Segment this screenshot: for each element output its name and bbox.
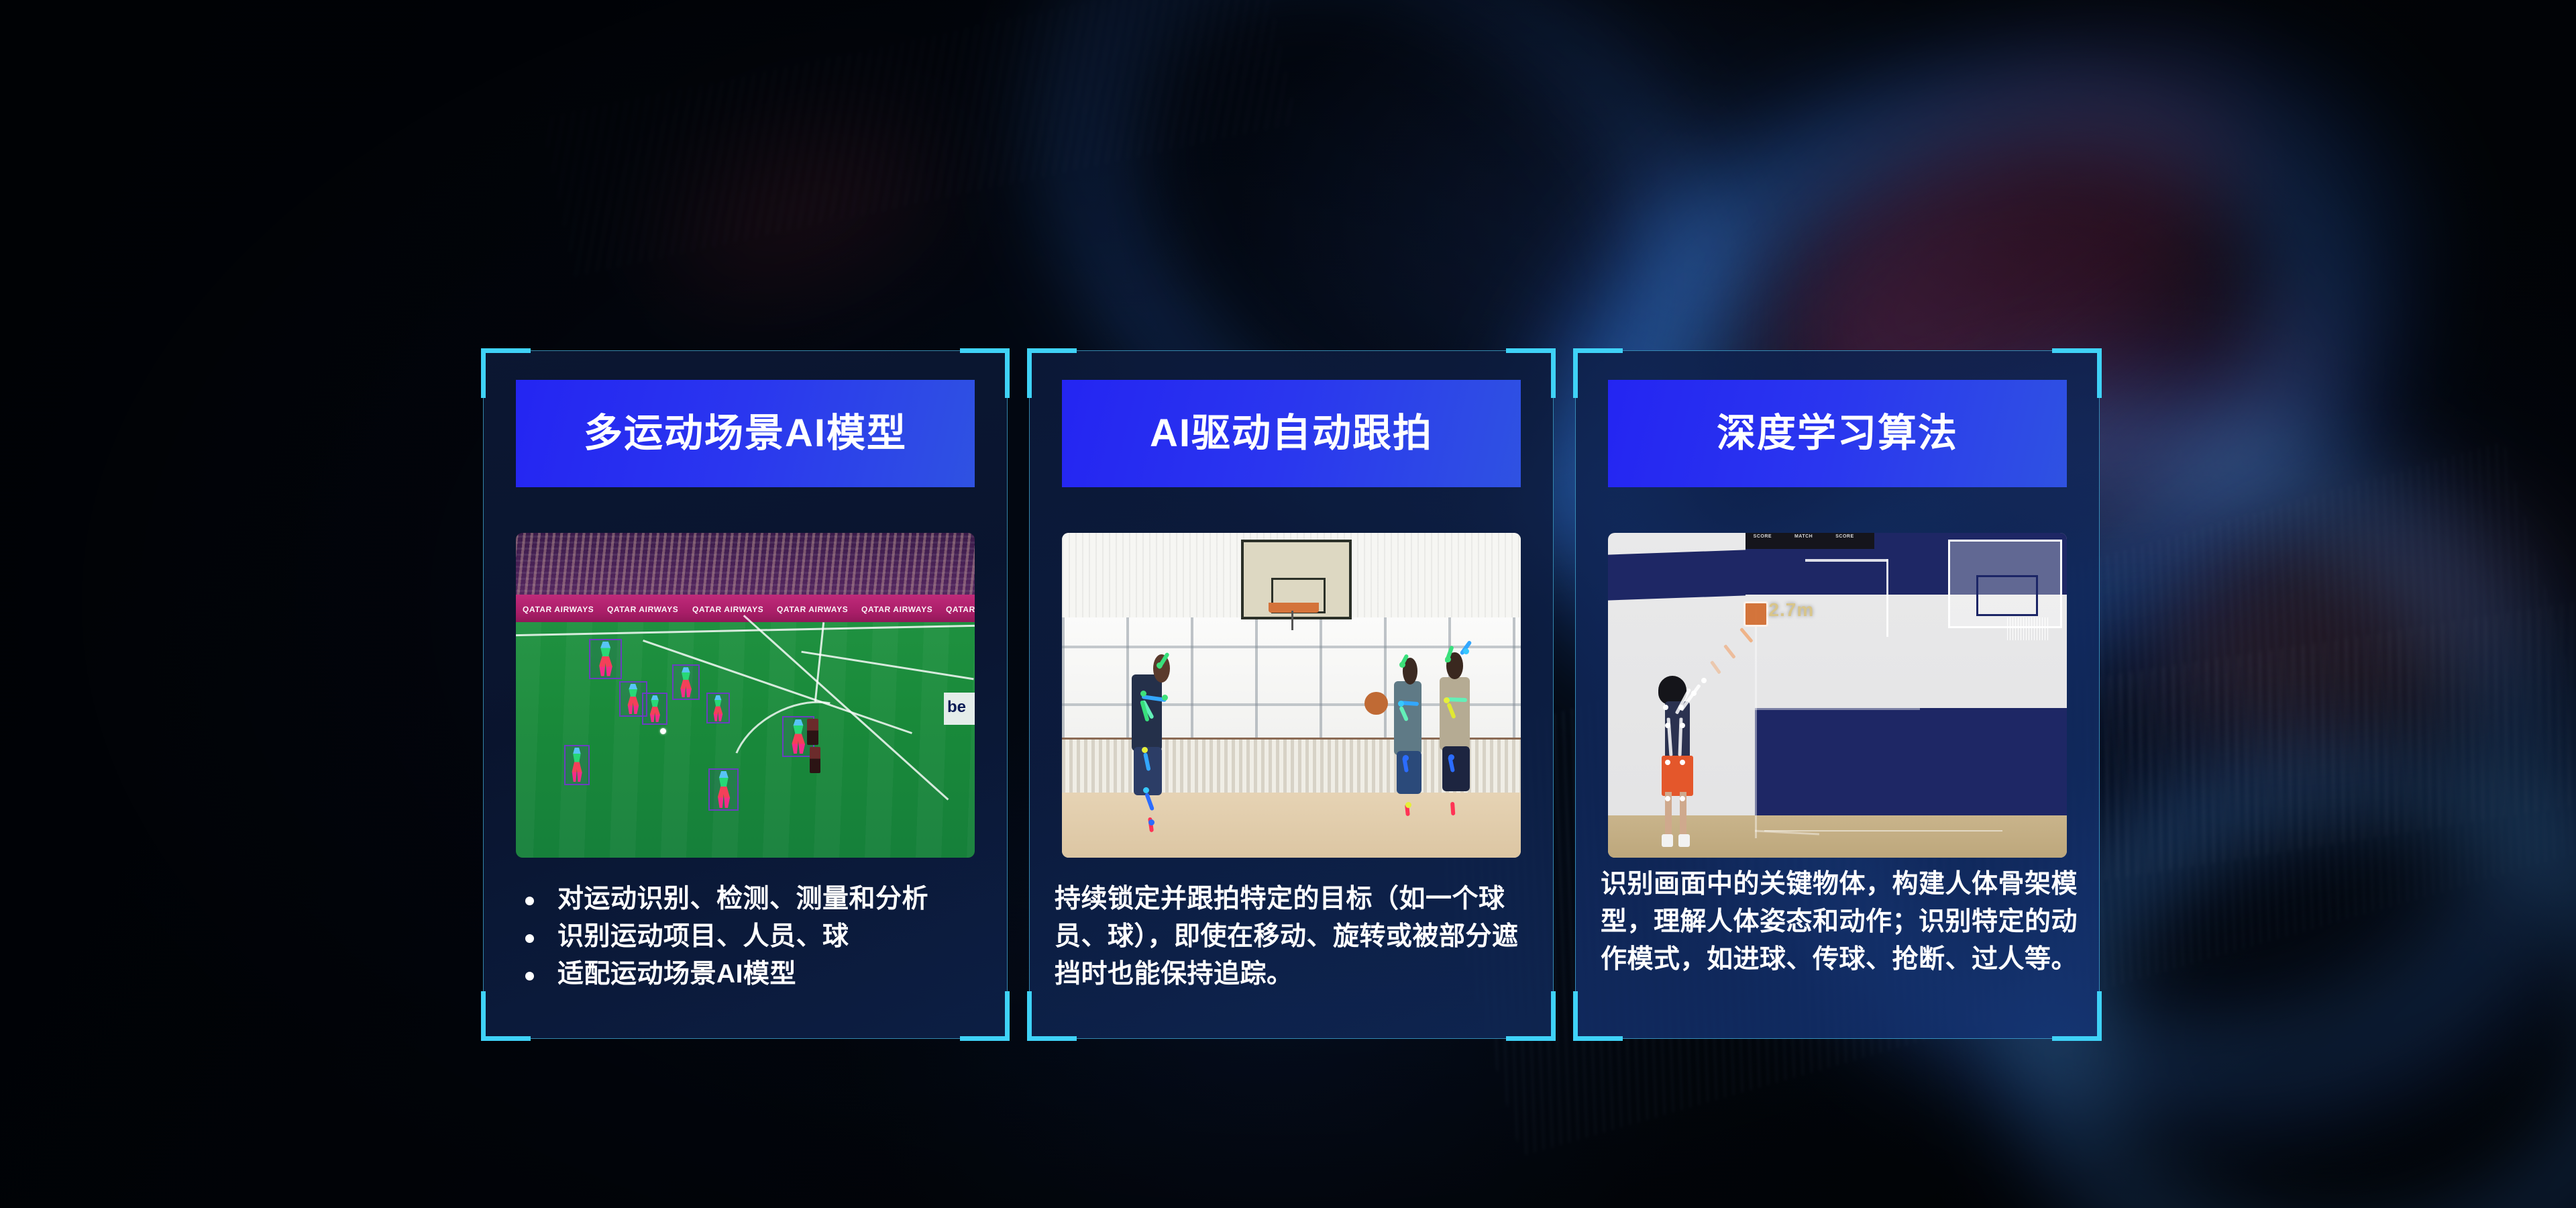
basketball-net: [2007, 617, 2049, 640]
measurement-label: 2.7m: [1768, 599, 1814, 621]
scoreboard-label: SCORE: [1835, 534, 1854, 539]
card-title-text: 多运动场景AI模型: [584, 414, 907, 453]
joint: [1148, 819, 1155, 825]
ad-text: QATAR AIRWAYS: [600, 605, 686, 614]
joint: [1140, 691, 1146, 697]
detection-box: [642, 693, 667, 725]
backboard: [1948, 540, 2062, 628]
undetected-player: [810, 747, 820, 773]
bone: [1145, 793, 1155, 811]
wall-navy-pad: [1755, 708, 2067, 815]
scoreboard: SCORE MATCH SCORE: [1746, 533, 1874, 549]
player-skeleton-left: [1117, 646, 1199, 848]
card-title-banner: 深度学习算法: [1608, 380, 2067, 487]
detection-box: [672, 664, 700, 700]
pitch-line-vertical: [814, 622, 824, 702]
measure-guide-drop: [1886, 559, 1888, 637]
joint: [1680, 796, 1685, 801]
pose-skeleton: [710, 695, 726, 721]
joint: [1665, 760, 1670, 765]
card-body-text: 识别画面中的关键物体，构建人体骨架模型，理解人体姿态和动作；识别特定的动作模式，…: [1601, 866, 2085, 978]
player-shoe: [1678, 834, 1690, 847]
ad-text: QATAR AIRWAYS: [685, 605, 770, 614]
pose-skeleton: [676, 667, 696, 697]
detection-box: [708, 768, 739, 811]
paragraph: 识别画面中的关键物体，构建人体骨架模型，理解人体姿态和动作；识别特定的动作模式，…: [1601, 866, 2085, 978]
pose-skeleton: [594, 642, 617, 676]
measure-guide-vertical: [1755, 607, 1757, 838]
card-title-banner: AI驱动自动跟拍: [1062, 380, 1521, 487]
pitch-line-far: [516, 624, 975, 636]
list-item: 适配运动场景AI模型: [516, 956, 985, 993]
basketball: [1364, 692, 1387, 715]
joint: [1162, 695, 1168, 701]
joint: [1405, 802, 1411, 808]
card-media-soccer-detection: QATAR AIRWAYS QATAR AIRWAYS QATAR AIRWAY…: [516, 533, 975, 858]
joint: [1678, 705, 1684, 710]
sponsor-board: [944, 693, 975, 725]
soccer-pitch: [516, 622, 975, 858]
measure-guide-top: [1805, 559, 1888, 562]
joint: [1680, 760, 1685, 765]
joint: [1665, 796, 1670, 801]
scoreboard-label: MATCH: [1794, 534, 1813, 539]
measure-guide-horizontal: [1755, 708, 1920, 710]
pose-skeleton: [646, 695, 663, 722]
joint: [1701, 678, 1707, 683]
floor-line: [1764, 830, 2003, 832]
stadium-crowd: [516, 533, 975, 598]
basketball-rim: [1269, 603, 1319, 613]
joint: [1691, 691, 1697, 696]
bullet-list: 对运动识别、检测、测量和分析 识别运动项目、人员、球 适配运动场景AI模型: [516, 880, 985, 993]
feature-card-group: 多运动场景AI模型 QATAR AIRWAYS QATAR AIRWAYS QA…: [0, 0, 2576, 1208]
ad-text: QATAR AIRWAYS: [939, 605, 975, 614]
pitch-line-box-top: [801, 651, 973, 681]
player-shorts: [1397, 751, 1421, 794]
list-item: 对运动识别、检测、测量和分析: [516, 880, 985, 918]
player-shorts: [1442, 746, 1470, 791]
ad-text: QATAR AIRWAYS: [855, 605, 940, 614]
backboard-inner-square: [1976, 575, 2037, 616]
soccer-ball: [660, 728, 666, 734]
undetected-player: [807, 719, 818, 745]
card-title-text: AI驱动自动跟拍: [1150, 414, 1433, 453]
player-shoe: [1662, 834, 1673, 847]
hoop-support-pole: [1291, 611, 1293, 630]
gym-scene: [1062, 533, 1521, 858]
paragraph: 持续锁定并跟拍特定的目标（如一个球员、球），即使在移动、旋转或被部分遮挡时也能保…: [1055, 880, 1539, 993]
ball-detection-box: [1743, 601, 1768, 627]
card-media-shot-measurement: SCORE MATCH SCORE 2.7m: [1608, 533, 2067, 858]
card-body-text: 对运动识别、检测、测量和分析 识别运动项目、人员、球 适配运动场景AI模型: [516, 880, 985, 993]
player-skeleton-right-b: [1429, 640, 1502, 845]
pose-skeleton: [787, 719, 810, 754]
feature-card-1[interactable]: 多运动场景AI模型 QATAR AIRWAYS QATAR AIRWAYS QA…: [483, 350, 1008, 1039]
card-media-gym-pose: [1062, 533, 1521, 858]
bone: [1450, 801, 1455, 815]
detection-box: [589, 639, 621, 679]
detection-box: [706, 693, 730, 723]
slide-stage: 多运动场景AI模型 QATAR AIRWAYS QATAR AIRWAYS QA…: [0, 0, 2576, 1208]
measurement-scene: SCORE MATCH SCORE 2.7m: [1608, 533, 2067, 858]
ad-text: QATAR AIRWAYS: [769, 605, 855, 614]
scoreboard-label: SCORE: [1754, 534, 1772, 539]
advertising-board: QATAR AIRWAYS QATAR AIRWAYS QATAR AIRWAY…: [516, 595, 975, 624]
player-skeleton: [1640, 676, 1723, 858]
detection-box: [564, 745, 590, 785]
card-title-banner: 多运动场景AI模型: [516, 380, 975, 487]
card-title-text: 深度学习算法: [1717, 414, 1958, 453]
feature-card-2[interactable]: AI驱动自动跟拍: [1029, 350, 1554, 1039]
joint: [1403, 755, 1409, 761]
ad-text: QATAR AIRWAYS: [516, 605, 601, 614]
pose-skeleton: [713, 771, 734, 808]
feature-card-3[interactable]: 深度学习算法 SCORE MATCH SCORE: [1575, 350, 2100, 1039]
pose-skeleton: [568, 748, 586, 783]
list-item: 识别运动项目、人员、球: [516, 918, 985, 956]
soccer-scene: QATAR AIRWAYS QATAR AIRWAYS QATAR AIRWAY…: [516, 533, 975, 858]
pose-skeleton: [623, 684, 643, 714]
card-body-text: 持续锁定并跟拍特定的目标（如一个球员、球），即使在移动、旋转或被部分遮挡时也能保…: [1055, 880, 1539, 993]
wall-navy-band-left: [1608, 550, 1746, 600]
joint: [1463, 648, 1469, 654]
